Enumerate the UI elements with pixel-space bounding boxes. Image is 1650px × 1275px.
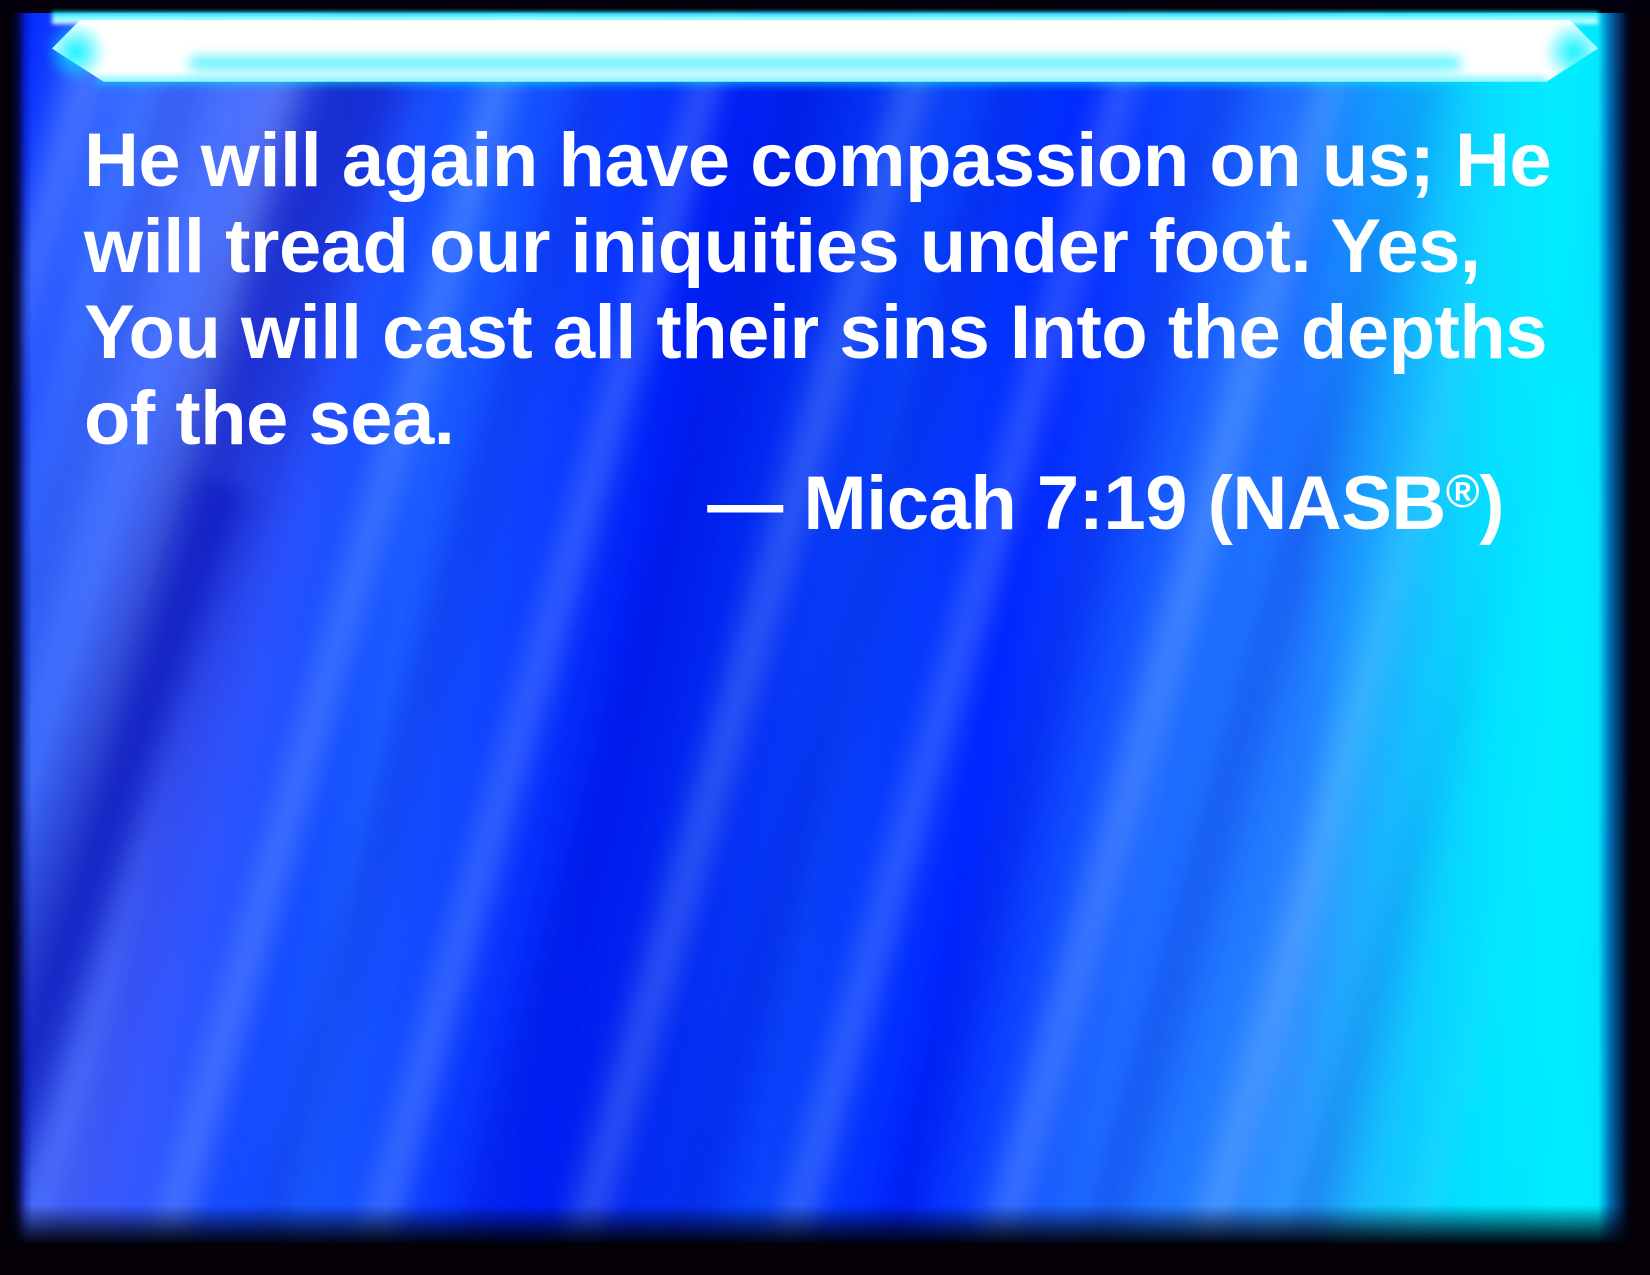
attribution-em-dash: — [707,461,783,546]
background-bottom-shadow [10,1205,1632,1245]
registered-trademark-icon: ® [1446,465,1479,517]
top-banner [0,0,1650,100]
banner-white-shape [52,20,1598,82]
attribution-translation-open: (NASB [1208,461,1446,546]
verse-line-2: will tread our iniquities under foot. Ye… [84,204,1504,290]
banner-right-glow [1544,22,1604,82]
attribution-reference: 7:19 [1037,461,1187,546]
verse-attribution: — Micah 7:19 (NASB®) [84,448,1504,547]
banner-left-glow [46,22,106,82]
banner-underglow [96,78,1546,88]
background-right-edge-shadow [1598,10,1632,1245]
attribution-book: Micah [803,461,1016,546]
verse-line-3: You will cast all their sins Into the de… [84,290,1504,376]
verse-slide: He will again have compassion on us; He … [0,0,1650,1275]
verse-line-1: He will again have compassion on us; He [84,118,1504,204]
background-left-edge-shadow [10,10,32,1245]
verse-text-block: He will again have compassion on us; He … [84,118,1504,462]
banner-cyan-highlight [190,55,1460,71]
attribution-translation-close: ) [1479,461,1504,546]
